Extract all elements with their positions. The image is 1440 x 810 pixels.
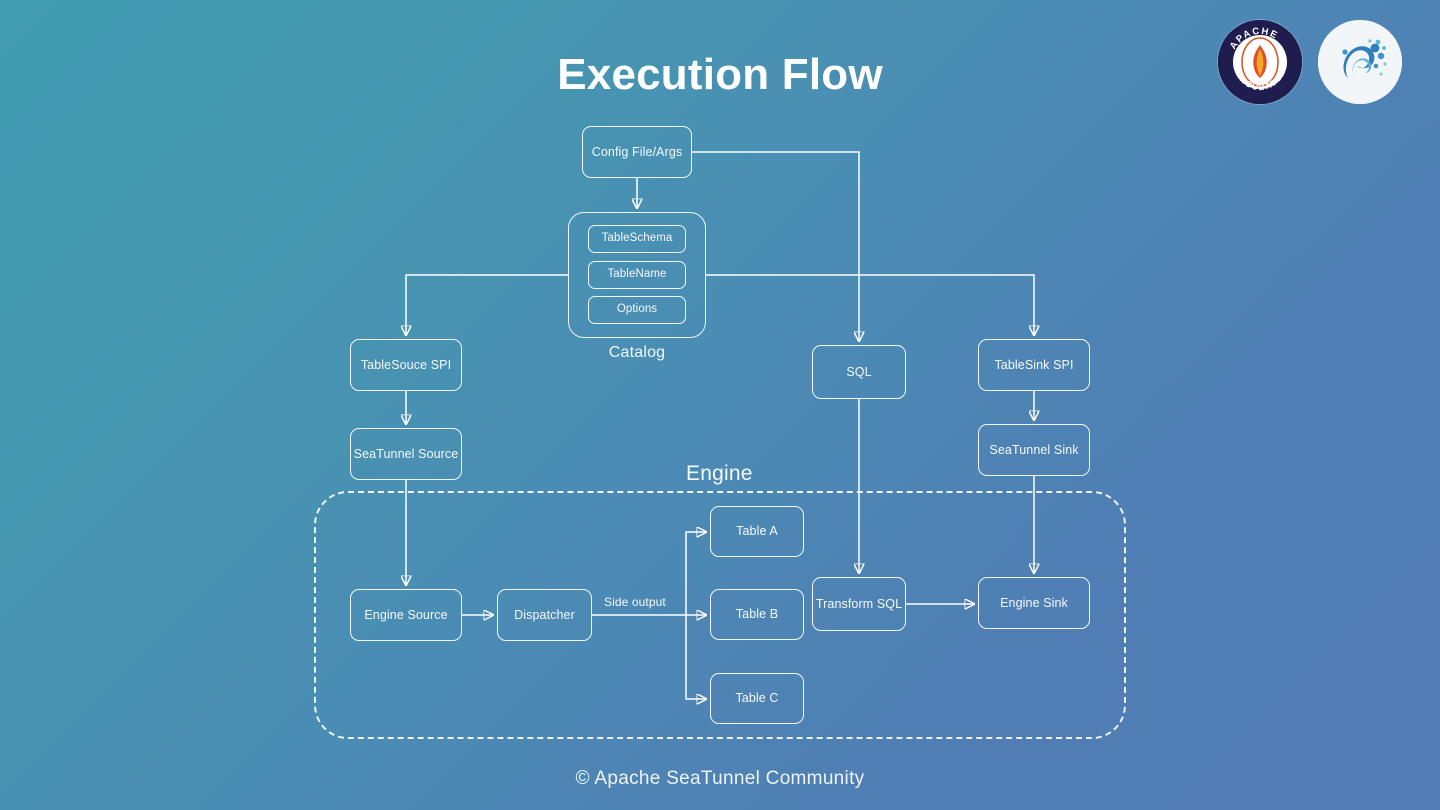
node-seatunnel-sink[interactable]: SeaTunnel Sink xyxy=(978,424,1090,476)
node-table-source-spi[interactable]: TableSouce SPI xyxy=(350,339,462,391)
catalog-label: Catalog xyxy=(568,344,706,362)
node-transform-sql[interactable]: Transform SQL xyxy=(812,577,906,631)
slide-root: Execution Flow APACHE INCUBATOR xyxy=(0,0,1440,810)
apache-incubator-logo: APACHE INCUBATOR xyxy=(1218,20,1302,104)
edge-label-side-output: Side output xyxy=(604,595,666,609)
node-options[interactable]: Options xyxy=(588,296,686,324)
node-table-b[interactable]: Table B xyxy=(710,589,804,640)
node-engine-sink[interactable]: Engine Sink xyxy=(978,577,1090,629)
node-sql[interactable]: SQL xyxy=(812,345,906,399)
node-table-sink-spi[interactable]: TableSink SPI xyxy=(978,339,1090,391)
logo-group: APACHE INCUBATOR xyxy=(1218,20,1402,104)
node-table-schema[interactable]: TableSchema xyxy=(588,225,686,253)
node-seatunnel-source[interactable]: SeaTunnel Source xyxy=(350,428,462,480)
node-engine-source[interactable]: Engine Source xyxy=(350,589,462,641)
footer-text: © Apache SeaTunnel Community xyxy=(0,768,1440,790)
node-table-a[interactable]: Table A xyxy=(710,506,804,557)
node-config-file-args[interactable]: Config File/Args xyxy=(582,126,692,178)
seatunnel-logo xyxy=(1318,20,1402,104)
engine-label: Engine xyxy=(686,462,753,486)
node-dispatcher[interactable]: Dispatcher xyxy=(497,589,592,641)
node-table-name[interactable]: TableName xyxy=(588,261,686,289)
node-table-c[interactable]: Table C xyxy=(710,673,804,724)
